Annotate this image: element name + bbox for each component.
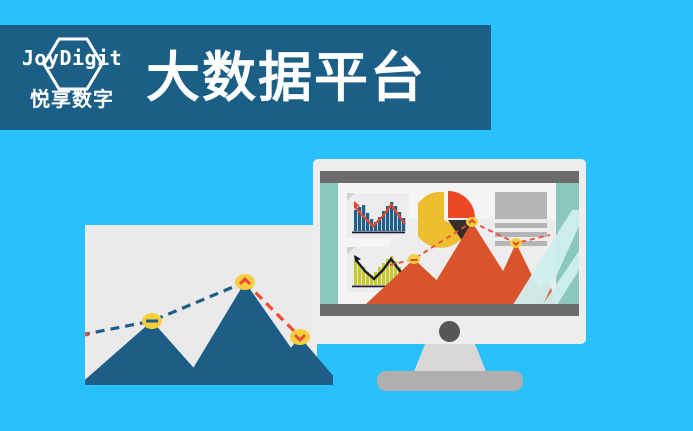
screen-bottom-bezel-bar: [320, 304, 579, 316]
logo-wordmark: JoyDigit: [14, 48, 130, 68]
glare-stripe-wide: [506, 210, 579, 316]
page-title: 大数据平台: [146, 51, 426, 105]
monitor-stand-base: [377, 371, 523, 391]
blue-mountain-svg: [85, 225, 333, 387]
monitor-stand-neck: [413, 344, 487, 374]
data-marker: [235, 274, 255, 290]
monitor-screen: [320, 171, 579, 316]
power-indicator-icon: [439, 321, 460, 342]
screen-glare: [320, 171, 579, 316]
poster-canvas: JoyDigit 悦享数字 大数据平台: [0, 0, 693, 431]
desktop-monitor: [313, 159, 586, 344]
blue-mountain-chart: [85, 225, 317, 385]
logo-subtitle: 悦享数字: [14, 90, 130, 110]
data-marker: [290, 329, 310, 345]
trend-line-red-head: [85, 335, 89, 336]
brand-logo: JoyDigit 悦享数字: [14, 34, 130, 122]
header-banner: JoyDigit 悦享数字 大数据平台: [0, 25, 491, 130]
